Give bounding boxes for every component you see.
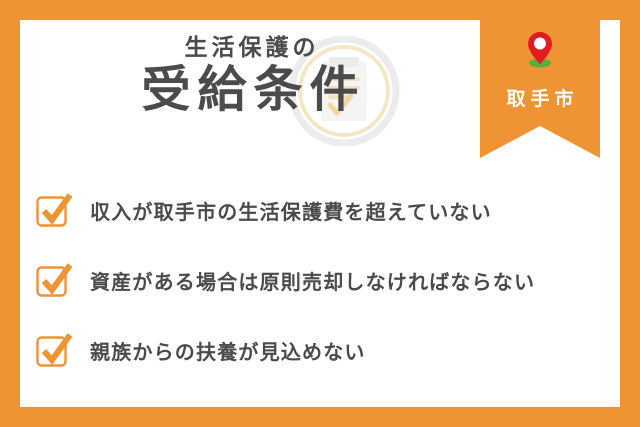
page-title: 生活保護の 受給条件 bbox=[20, 34, 480, 120]
list-item-label: 資産がある場合は原則売却しなければならない bbox=[90, 266, 535, 295]
infographic-card: 生活保護の 受給条件 取手市 bbox=[0, 0, 640, 427]
ribbon-city-label: 取手市 bbox=[480, 84, 600, 111]
list-item: 収入が取手市の生活保護費を超えていない bbox=[20, 175, 620, 245]
header-section: 生活保護の 受給条件 取手市 bbox=[20, 20, 620, 168]
list-item: 親族からの扶養が見込めない bbox=[20, 315, 620, 385]
list-item: 資産がある場合は原則売却しなければならない bbox=[20, 245, 620, 315]
list-item-label: 収入が取手市の生活保護費を超えていない bbox=[90, 196, 492, 225]
title-main: 受給条件 bbox=[20, 62, 480, 120]
checkbox-checked-icon bbox=[34, 190, 74, 230]
condition-list: 収入が取手市の生活保護費を超えていない 資産がある場合は原則売却しなければならな… bbox=[20, 175, 620, 385]
checkbox-checked-icon bbox=[34, 260, 74, 300]
list-item-label: 親族からの扶養が見込めない bbox=[90, 336, 366, 365]
content-panel: 生活保護の 受給条件 取手市 bbox=[20, 20, 620, 407]
title-subtitle: 生活保護の bbox=[20, 34, 480, 60]
city-ribbon: 取手市 bbox=[480, 20, 600, 158]
checkbox-checked-icon bbox=[34, 330, 74, 370]
map-pin-icon bbox=[525, 30, 555, 68]
